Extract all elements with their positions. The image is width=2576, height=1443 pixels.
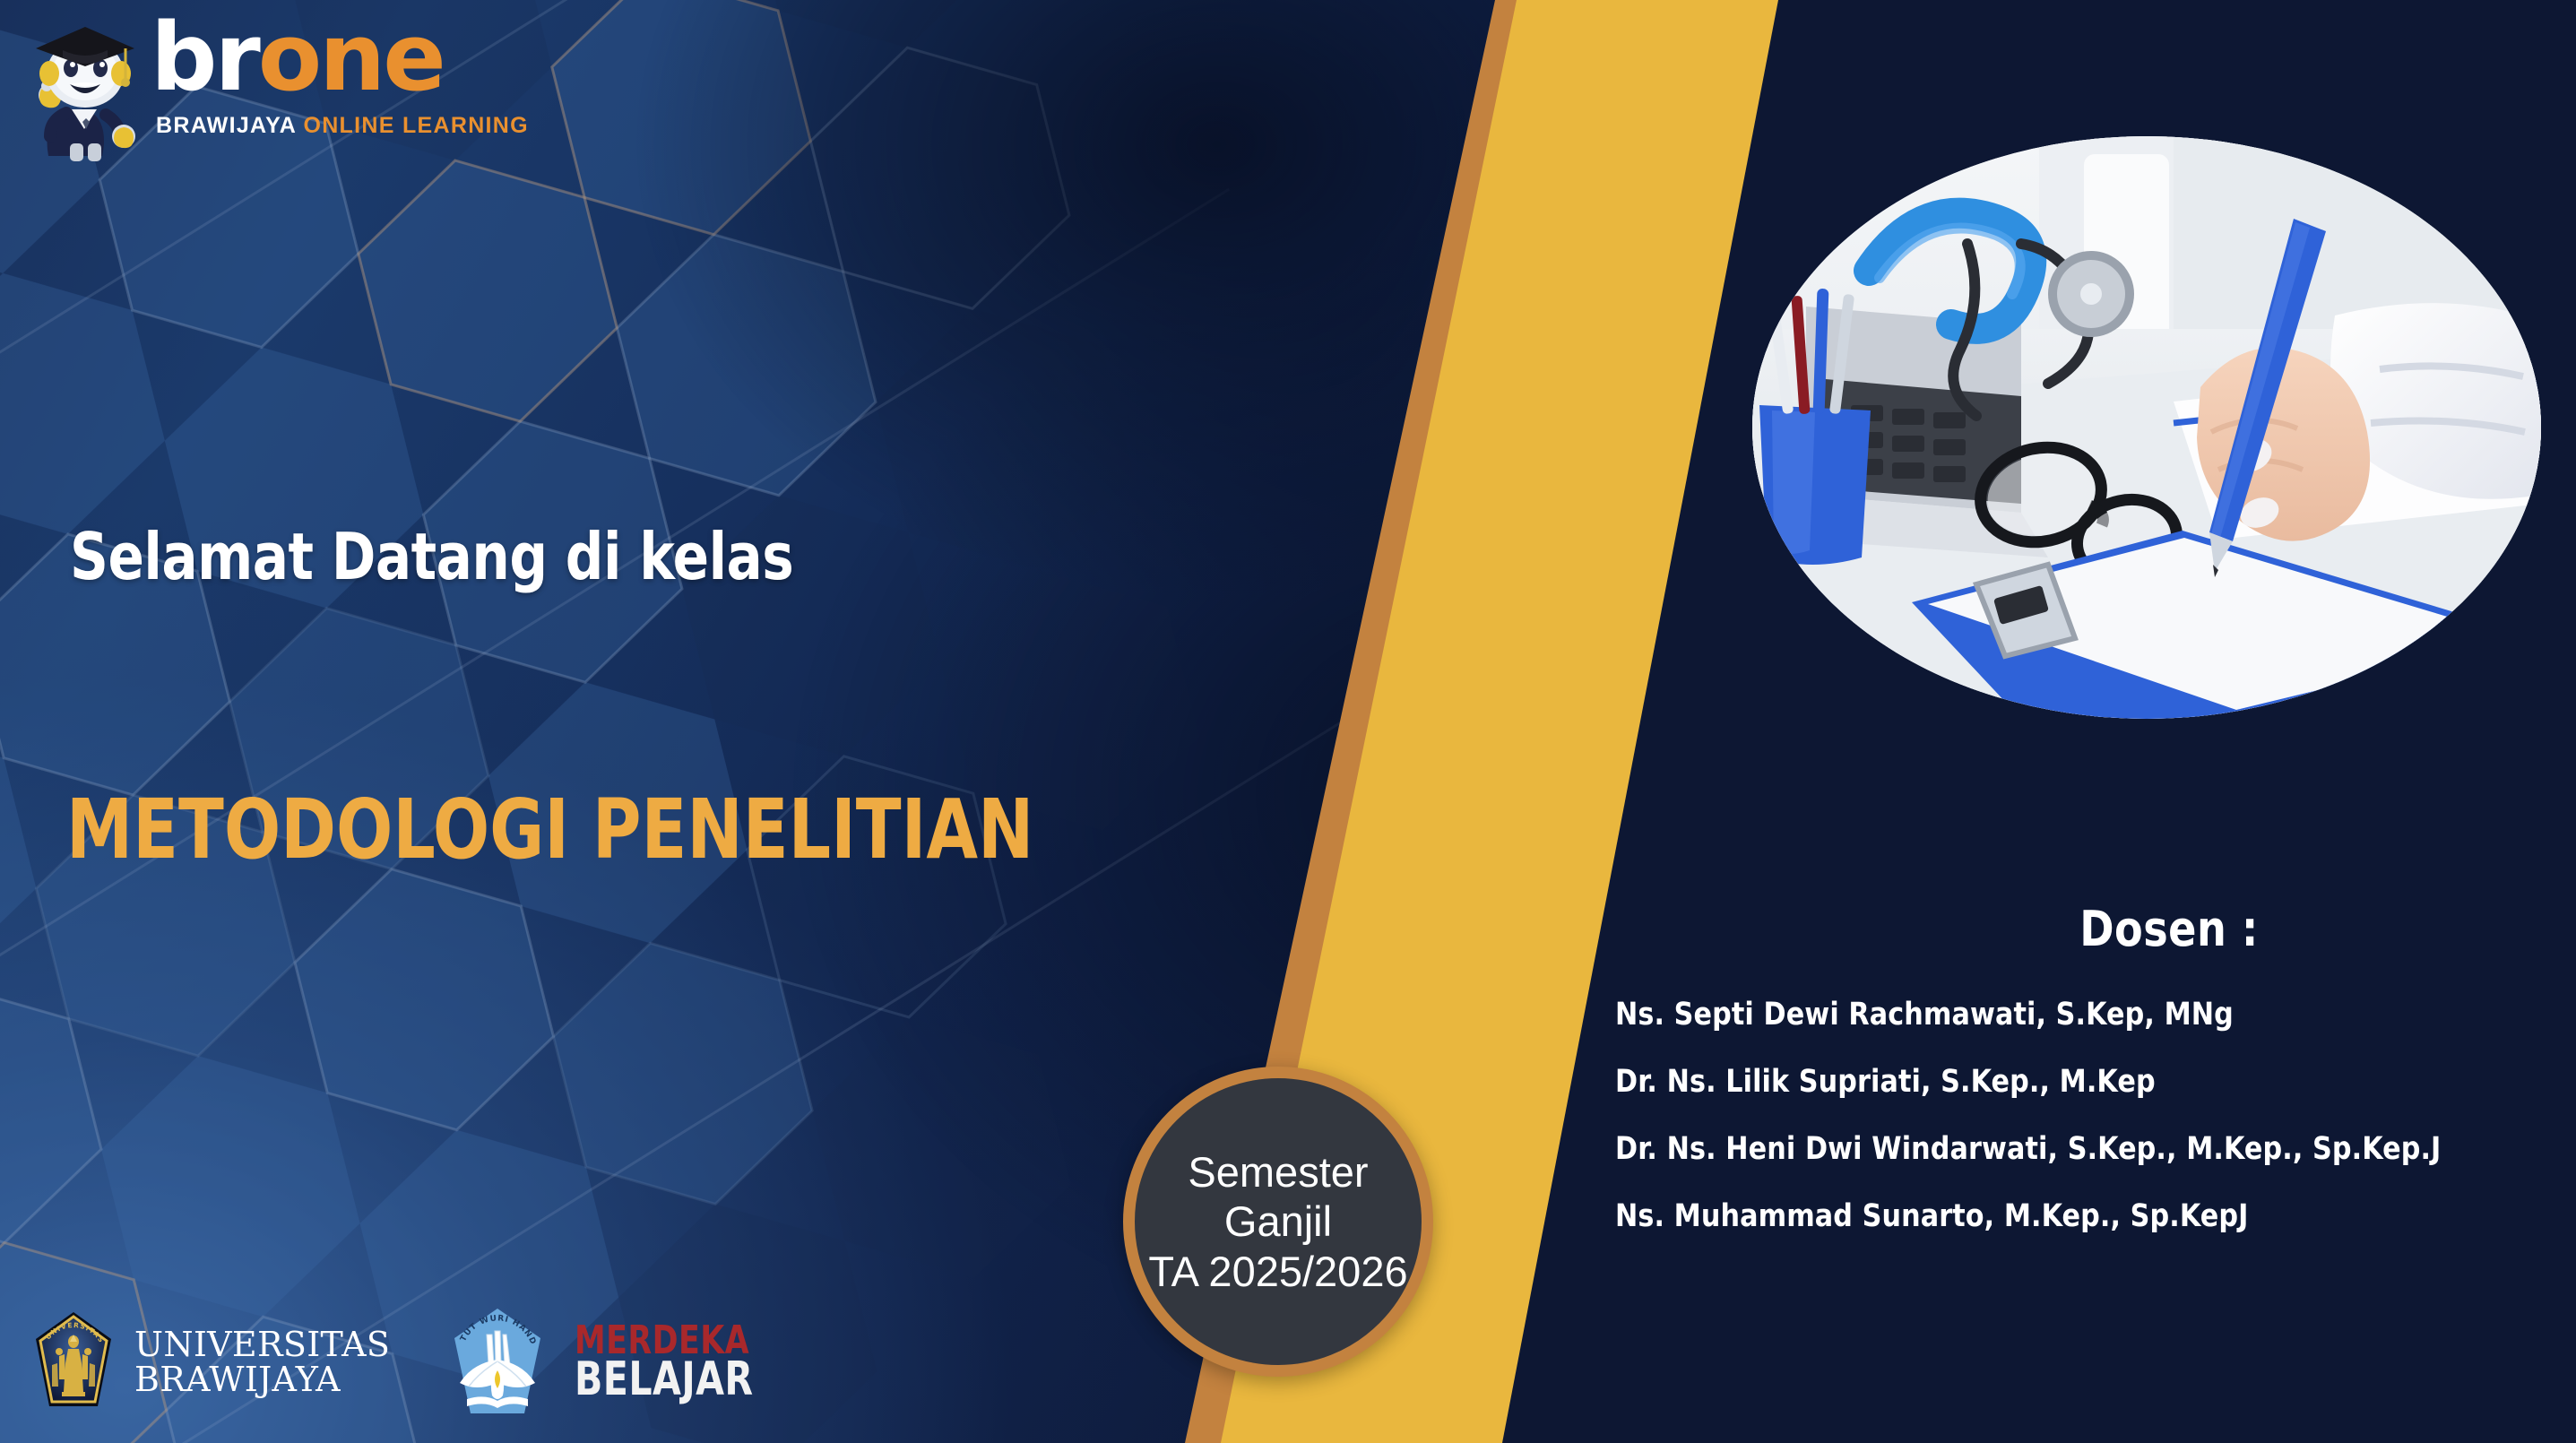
universitas-brawijaya-shield-icon: UNIVERSITAS BRAWIJAYA [32,1309,115,1415]
lecturers-heading: Dosen : [1803,901,2536,957]
merdeka-belajar-logo: MERDEKA BELAJAR [575,1323,778,1402]
footer-logo-row: UNIVERSITAS BRAWIJAYA UNIVERSITAS [32,1300,778,1425]
semester-line-1: Semester [1188,1147,1368,1197]
ub-line-1: UNIVERSITAS [134,1327,390,1362]
logo-word-one: one [258,3,444,112]
tagline-online-learning: ONLINE LEARNING [296,113,529,138]
merdeka-line-2: BELAJAR [575,1359,754,1402]
list-item: Dr. Ns. Lilik Supriati, S.Kep., M.Kep [1615,1067,2528,1098]
welcome-heading: Selamat Datang di kelas [70,524,793,589]
brone-wordmark: brone [151,11,444,104]
tagline-brawijaya: BRAWIJAYA [156,113,296,138]
semester-line-3: TA 2025/2026 [1148,1247,1407,1296]
graduation-robot-mascot-icon [20,9,152,161]
logo-word-br: br [151,3,258,112]
tut-wuri-handayani-emblem-icon: TUT WURI HANDAYANI [449,1306,546,1419]
universitas-brawijaya-wordmark: UNIVERSITAS BRAWIJAYA [134,1327,390,1397]
ub-line-2: BRAWIJAYA [134,1362,390,1397]
list-item: Ns. Septi Dewi Rachmawati, S.Kep, MNg [1615,999,2528,1031]
list-item: Ns. Muhammad Sunarto, M.Kep., Sp.KepJ [1615,1201,2528,1232]
semester-line-2: Ganjil [1224,1197,1332,1246]
brone-tagline: BRAWIJAYA ONLINE LEARNING [156,115,529,137]
brone-logo[interactable]: brone BRAWIJAYA ONLINE LEARNING [16,7,482,106]
medical-desk-photo [1752,136,2541,719]
list-item: Dr. Ns. Heni Dwi Windarwati, S.Kep., M.K… [1615,1134,2528,1165]
lecturers-list: Ns. Septi Dewi Rachmawati, S.Kep, MNg Dr… [1615,999,2565,1268]
universitas-brawijaya-logo: UNIVERSITAS BRAWIJAYA UNIVERSITAS [32,1309,390,1415]
semester-badge: Semester Ganjil TA 2025/2026 [1123,1067,1433,1377]
course-title: METODOLOGI PENELITIAN [66,789,1033,871]
medical-desk-photo-illustration [1752,136,2541,719]
slide-canvas: brone BRAWIJAYA ONLINE LEARNING Selamat … [0,0,2576,1443]
